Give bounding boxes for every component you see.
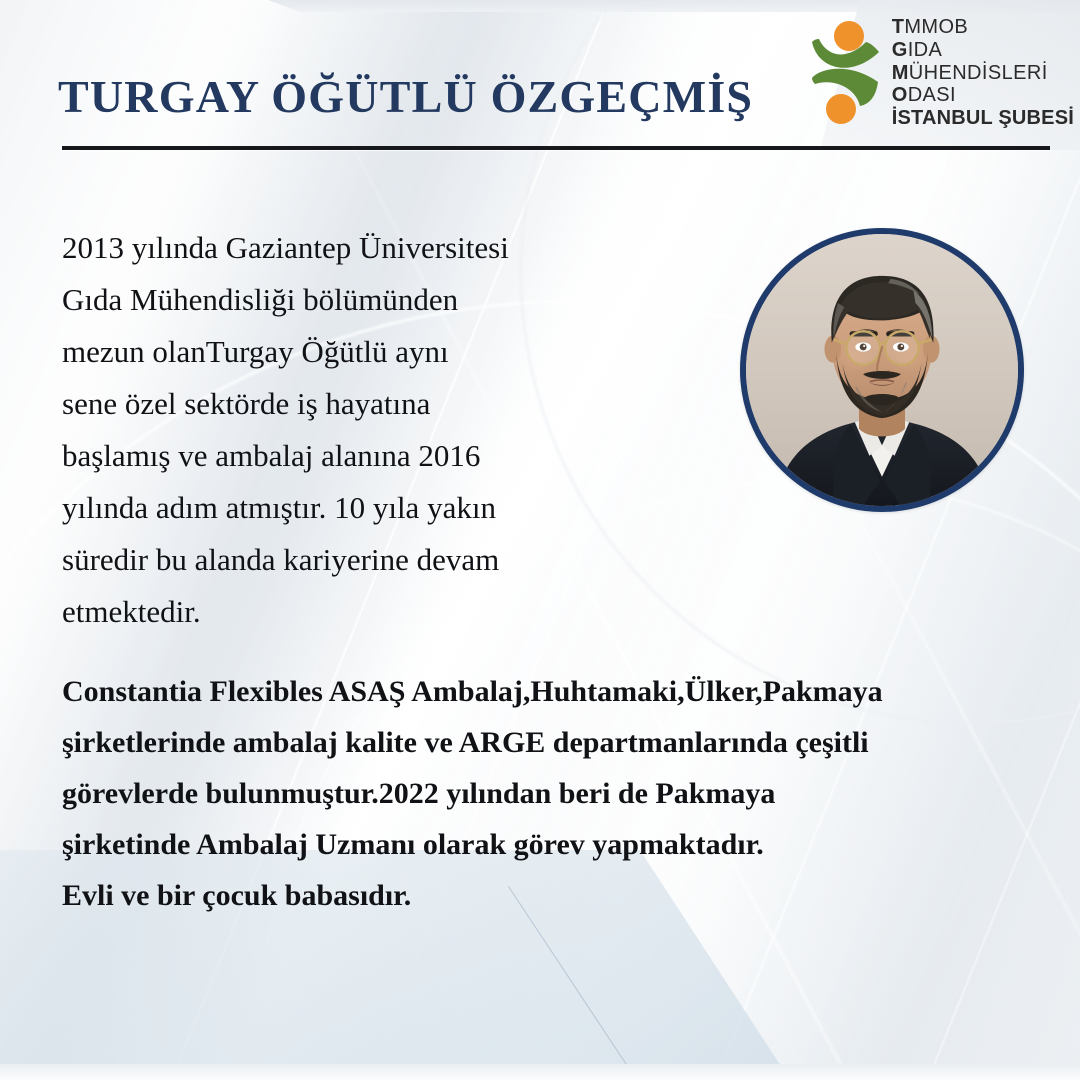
page-title: TURGAY ÖĞÜTLÜ ÖZGEÇMİŞ [58,70,753,123]
logo-text-block: TMMOB GIDA MÜHENDİSLERİ ODASI İSTANBUL Ş… [892,14,1074,130]
logo-line-2-rest: ÜHENDİSLERİ [909,62,1048,84]
logo-line-1-rest: IDA [908,39,943,61]
logo-line-1-cap: G [892,39,908,61]
logo-line-3-cap: O [892,84,908,106]
bottom-strip [0,1064,1080,1080]
portrait-photo: Turgay Öğütlü portre fotoğrafı [740,228,1024,512]
logo-line-3-rest: DASI [908,84,956,106]
logo-line-tmmob: TMMOB [892,16,1074,39]
logo-mark-icon [808,16,884,128]
logo-line-2-cap: M [892,62,909,84]
biography-paragraph-1: 2013 yılında Gaziantep Üniversitesi Gıda… [62,222,662,638]
slide-canvas: TURGAY ÖĞÜTLÜ ÖZGEÇMİŞ TMMOB GIDA [0,0,1080,1080]
title-underline-rule [62,146,1050,150]
logo-line-branch: İSTANBUL ŞUBESİ [892,107,1074,130]
biography-paragraph-2: Constantia Flexibles ASAŞ Ambalaj,Huhtam… [62,666,1042,921]
logo-line-0-cap: T [892,16,905,38]
logo-line-gida: GIDA [892,39,1074,62]
logo-line-odasi: ODASI [892,84,1074,107]
logo-line-muhendisleri: MÜHENDİSLERİ [892,62,1074,85]
header: TURGAY ÖĞÜTLÜ ÖZGEÇMİŞ TMMOB GIDA [0,0,1080,170]
logo-line-0-rest: MMOB [904,16,968,38]
organization-logo: TMMOB GIDA MÜHENDİSLERİ ODASI İSTANBUL Ş… [808,14,1074,130]
